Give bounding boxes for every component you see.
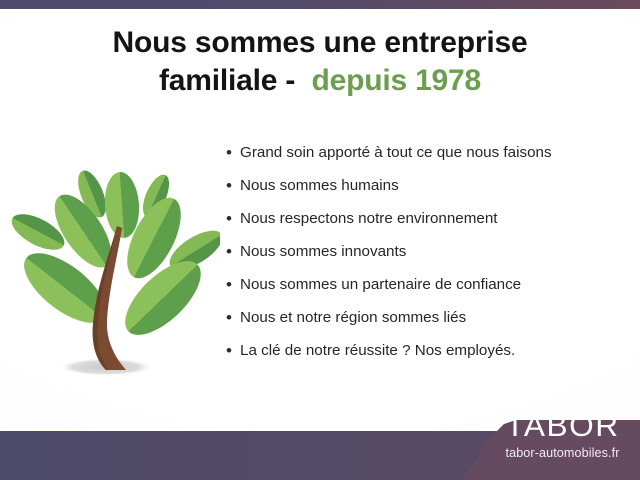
list-item: • Nous sommes humains	[226, 175, 626, 208]
list-item-label: Nous sommes innovants	[240, 241, 406, 263]
logo-tagline: tabor-automobiles.fr	[485, 445, 640, 462]
brand-logo[interactable]: TABOR tabor-automobiles.fr	[485, 408, 640, 480]
title-line-2-prefix: familiale	[159, 64, 277, 97]
title-accent: depuis 1978	[311, 64, 481, 97]
list-item-label: La clé de notre réussite ? Nos employés.	[240, 340, 515, 362]
bullet-dot-icon: •	[226, 340, 240, 362]
page-title: Nous sommes une entreprise familiale - d…	[0, 26, 640, 97]
list-item-label: Grand soin apporté à tout ce que nous fa…	[240, 142, 552, 164]
logo-wordmark: TABOR	[483, 408, 640, 444]
title-line-2-dash: -	[285, 64, 295, 97]
list-item: • Grand soin apporté à tout ce que nous …	[226, 142, 626, 175]
list-item: • La clé de notre réussite ? Nos employé…	[226, 340, 626, 373]
bullet-dot-icon: •	[226, 142, 240, 164]
list-item: • Nous sommes innovants	[226, 241, 626, 274]
title-spacer	[295, 64, 311, 97]
tree-icon	[8, 148, 220, 393]
title-line-1: Nous sommes une entreprise	[0, 26, 640, 60]
title-line-2: familiale - depuis 1978	[0, 64, 640, 98]
top-accent-bar	[0, 0, 640, 9]
list-item: • Nous respectons notre environnement	[226, 208, 626, 241]
list-item-label: Nous et notre région sommes liés	[240, 307, 466, 329]
bullet-dot-icon: •	[226, 241, 240, 263]
list-item-label: Nous sommes un partenaire de confiance	[240, 274, 521, 296]
slide-canvas: Nous sommes une entreprise familiale - d…	[0, 0, 640, 480]
list-item-label: Nous respectons notre environnement	[240, 208, 498, 230]
bullet-dot-icon: •	[226, 307, 240, 329]
leaf-top-center	[103, 171, 142, 239]
list-item: • Nous sommes un partenaire de confiance	[226, 274, 626, 307]
tree-illustration	[8, 148, 220, 393]
bullet-dot-icon: •	[226, 175, 240, 197]
bullet-dot-icon: •	[226, 208, 240, 230]
list-item-label: Nous sommes humains	[240, 175, 399, 197]
list-item: • Nous et notre région sommes liés	[226, 307, 626, 340]
bullet-list: • Grand soin apporté à tout ce que nous …	[226, 142, 626, 373]
bullet-dot-icon: •	[226, 274, 240, 296]
